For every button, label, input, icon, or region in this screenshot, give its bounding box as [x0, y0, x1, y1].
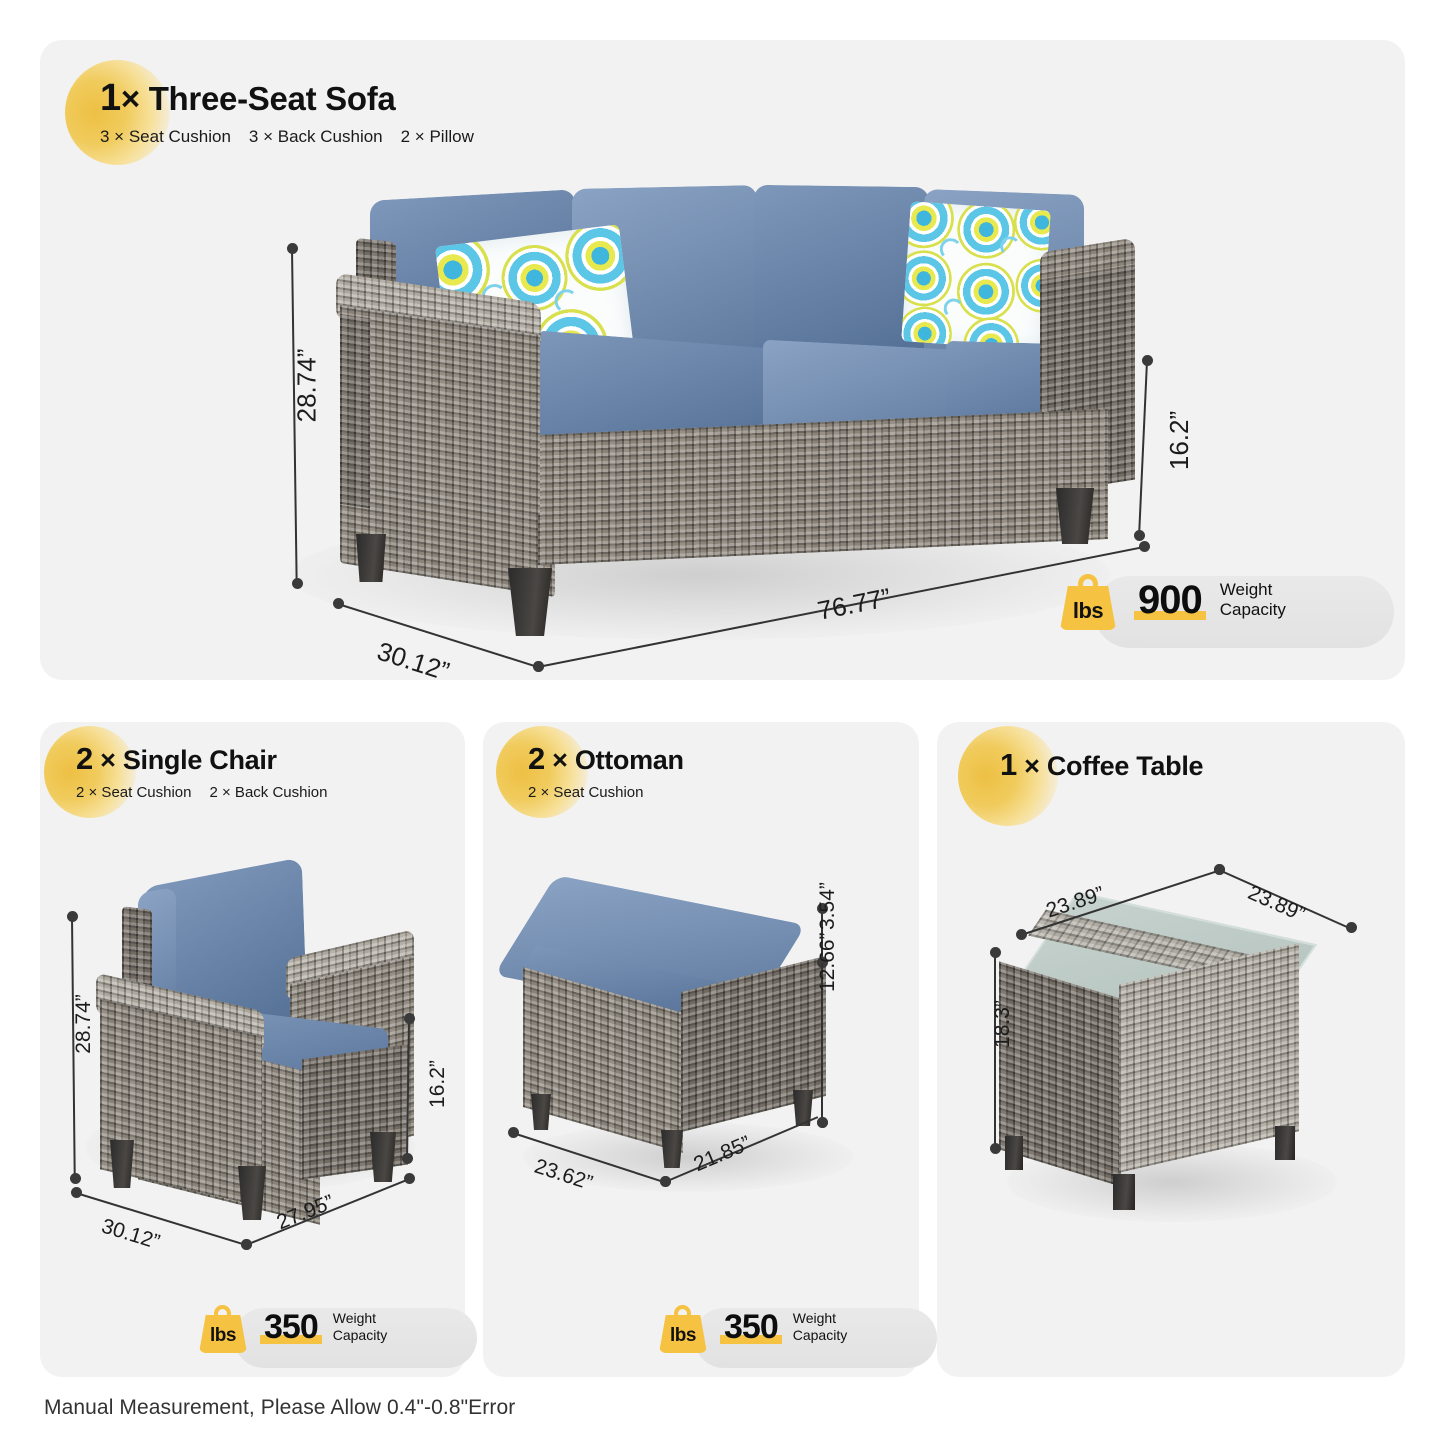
product-name: Single Chair: [123, 745, 277, 775]
weight-label-line2: Capacity: [1220, 600, 1286, 619]
dimension-label: 30.12”: [98, 1215, 162, 1255]
dimension-label: 30.12”: [373, 636, 453, 680]
multiply-symbol: ×: [1024, 751, 1039, 781]
sofa-leg: [356, 534, 386, 582]
weight-unit: lbs: [656, 1325, 710, 1347]
product-title-coffee-table: 1 × Coffee Table: [1000, 748, 1203, 783]
multiply-symbol: ×: [100, 745, 115, 775]
weight-value: 900: [1134, 578, 1206, 623]
weight-capacity-label: WeightCapacity: [793, 1310, 847, 1344]
weight-label-line2: Capacity: [333, 1327, 387, 1343]
dimension-label: 16.2”: [426, 1060, 450, 1108]
product-includes-sofa: 3 × Seat Cushion3 × Back Cushion2 × Pill…: [100, 124, 474, 150]
product-name: Three-Seat Sofa: [149, 80, 396, 117]
weight-label-line1: Weight: [1220, 580, 1273, 599]
weight-icon: lbs: [1056, 568, 1120, 632]
product-header-chair: 2 × Single Chair 2 × Seat Cushion2 × Bac…: [76, 742, 328, 804]
include-item: 3 × Back Cushion: [249, 127, 383, 146]
product-spec-sheet: 28.74” 16.2” 30.12” 76.77”: [0, 0, 1445, 1445]
weight-icon: lbs: [196, 1300, 250, 1354]
include-item: 2 × Pillow: [401, 127, 474, 146]
dimension-label: 16.2”: [1164, 411, 1195, 470]
product-name: Ottoman: [575, 745, 684, 775]
weight-unit: lbs: [196, 1325, 250, 1347]
product-header-ottoman: 2 × Ottoman 2 × Seat Cushion: [528, 742, 684, 804]
include-item: 2 × Back Cushion: [210, 784, 328, 801]
include-item: 2 × Seat Cushion: [528, 784, 644, 801]
measurement-disclaimer: Manual Measurement, Please Allow 0.4"-0.…: [44, 1396, 515, 1420]
weight-label-line1: Weight: [793, 1310, 836, 1326]
product-qty: 2: [76, 741, 93, 776]
product-qty: 1: [1000, 747, 1017, 782]
dimension-label: 28.74”: [72, 994, 96, 1054]
dimension-label: 3.54”: [816, 882, 840, 930]
weight-capacity-badge-ottoman: lbs 350 WeightCapacity: [656, 1300, 867, 1354]
product-title-chair: 2 × Single Chair: [76, 742, 328, 777]
product-qty: 1: [100, 77, 121, 119]
product-name: Coffee Table: [1047, 751, 1203, 781]
dimension-label: 23.89”: [1244, 881, 1308, 927]
product-includes-ottoman: 2 × Seat Cushion: [528, 781, 684, 804]
weight-unit: lbs: [1056, 598, 1120, 624]
weight-capacity-label: WeightCapacity: [333, 1310, 387, 1344]
product-qty: 2: [528, 741, 545, 776]
product-title-sofa: 1× Three-Seat Sofa: [100, 78, 474, 119]
dimension-label: 12.66”: [816, 932, 840, 992]
dimension-label: 18.3”: [991, 1000, 1015, 1048]
include-item: 2 × Seat Cushion: [76, 784, 192, 801]
weight-capacity-badge-chair: lbs 350 WeightCapacity: [196, 1300, 407, 1354]
weight-capacity-badge-sofa: lbs 900 WeightCapacity: [1056, 568, 1306, 632]
decorative-pillow-right: [901, 201, 1050, 350]
weight-label-line1: Weight: [333, 1310, 376, 1326]
product-card-chair: 28.74” 16.2” 30.12” 27.95”: [40, 722, 465, 1377]
weight-label-line2: Capacity: [793, 1327, 847, 1343]
include-item: 3 × Seat Cushion: [100, 127, 231, 146]
weight-value: 350: [720, 1308, 782, 1347]
product-header-coffee-table: 1 × Coffee Table: [1000, 748, 1203, 783]
product-includes-chair: 2 × Seat Cushion2 × Back Cushion: [76, 781, 328, 804]
product-title-ottoman: 2 × Ottoman: [528, 742, 684, 777]
weight-capacity-label: WeightCapacity: [1220, 580, 1286, 620]
product-header-sofa: 1× Three-Seat Sofa 3 × Seat Cushion3 × B…: [100, 78, 474, 150]
multiply-symbol: ×: [121, 80, 140, 117]
product-card-ottoman: 3.54” 12.66” 23.62” 21.85”: [483, 722, 919, 1377]
sofa-leg: [1056, 488, 1094, 544]
dimension-label: 28.74”: [291, 349, 322, 423]
weight-icon: lbs: [656, 1300, 710, 1354]
multiply-symbol: ×: [552, 745, 567, 775]
weight-value: 350: [260, 1308, 322, 1347]
